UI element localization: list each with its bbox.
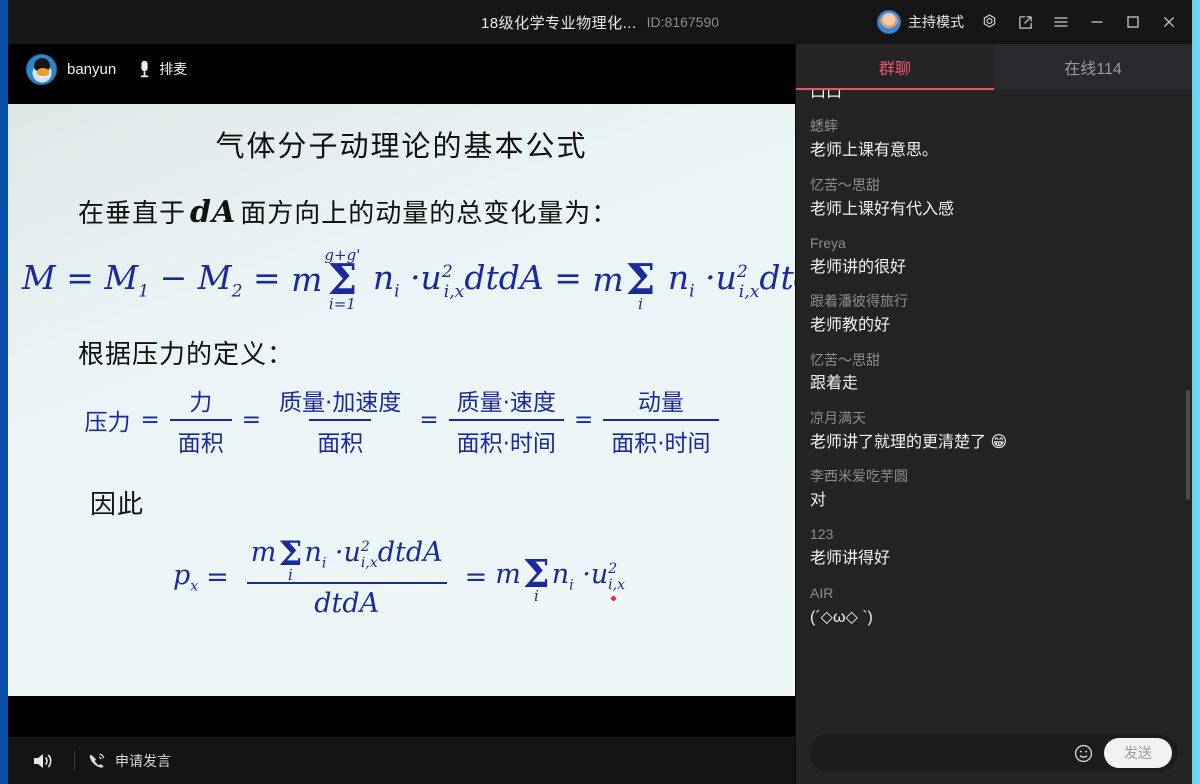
fraction-1-denominator: 面积: [170, 419, 232, 458]
slide-line-4: 因此: [90, 484, 795, 521]
fraction-5-numerator: mΣini ·u2i,xdtdA: [237, 537, 457, 582]
pressure-label: 压力: [84, 403, 130, 437]
host-mode-button[interactable]: 主持模式: [871, 10, 970, 34]
close-icon[interactable]: [1152, 5, 1186, 39]
equation-2: 压力 = 力 面积 = 质量·加速度 面积 =: [8, 383, 795, 458]
chat-scrollbar-thumb[interactable]: [1186, 390, 1190, 500]
title-bar-controls: 主持模式: [871, 0, 1186, 44]
chat-tabs: 群聊 在线114: [796, 44, 1192, 90]
title-bar: 18级化学专业物理化... ID:8167590 主持模式: [8, 0, 1192, 44]
desktop-background: 18级化学专业物理化... ID:8167590 主持模式: [0, 0, 1200, 784]
slide-line2-prefix: 在垂直于: [78, 193, 186, 230]
chat-message-text: 老师讲得好: [810, 548, 1178, 570]
chat-message-list[interactable]: 口口蟋蟀老师上课有意思。忆苦～思甜老师上课好有代入感Freya老师讲的很好跟着潘…: [796, 90, 1192, 722]
chat-input-bar: 发送: [796, 722, 1192, 784]
equation-3-eq2: =: [465, 562, 488, 593]
tab-group-chat[interactable]: 群聊: [796, 44, 994, 90]
minimize-icon[interactable]: [1080, 5, 1114, 39]
request-speak-button[interactable]: 申请发言: [87, 751, 171, 771]
fraction-4: 动量 面积·时间: [603, 383, 718, 458]
equation-1-term: ni ·u2i,xdtdA =: [362, 258, 592, 302]
sigma-icon: Σ: [328, 263, 358, 297]
toolbar-divider: [74, 751, 75, 771]
gear-icon[interactable]: [972, 5, 1006, 39]
sum-lower-limit: i=1: [329, 297, 356, 312]
window-title: 18级化学专业物理化...: [481, 12, 637, 33]
chat-message-author: AIR: [810, 584, 1178, 603]
phone-icon: [87, 752, 106, 771]
equation-1: M = M1 − M2 = m g+g' Σ i=1 ni ·u2i,xdtdA…: [22, 248, 795, 312]
penguin-avatar-icon: [26, 54, 57, 85]
chat-panel: 群聊 在线114 口口蟋蟀老师上课有意思。忆苦～思甜老师上课好有代入感Freya…: [795, 44, 1192, 784]
chat-message: 李西米爱吃芋圆对: [810, 467, 1178, 512]
chat-message-author: 123: [810, 525, 1178, 544]
eq-sign-1: =: [140, 407, 159, 433]
chat-message: AIR(´◇ω◇ `): [810, 584, 1178, 629]
fraction-5: mΣini ·u2i,xdtdA dtdA: [237, 537, 457, 619]
chat-message-author: 李西米爱吃芋圆: [810, 467, 1178, 486]
speaker-chip[interactable]: banyun: [26, 54, 116, 85]
tab-online-members[interactable]: 在线114: [994, 44, 1192, 90]
slide-line2-suffix: 面方向上的动量的总变化量为：: [240, 193, 618, 230]
eq-sign-4: =: [574, 407, 593, 433]
chat-message-author: 跟着潘彼得旅行: [810, 292, 1178, 311]
host-avatar: [877, 10, 901, 34]
mic-queue-label: 排麦: [159, 59, 187, 79]
equation-1-m2: m: [592, 260, 623, 299]
equation-3-lhs: px: [173, 560, 198, 594]
send-button[interactable]: 发送: [1104, 738, 1172, 768]
summation-1: g+g' Σ i=1: [324, 248, 360, 312]
chat-message: Freya老师讲的很好: [810, 234, 1178, 279]
chat-message-author: 蟋蟀: [810, 117, 1178, 136]
speaker-name: banyun: [67, 61, 116, 78]
fraction-3: 质量·速度 面积·时间: [449, 383, 564, 458]
equation-1-lhs: M = M1 − M2 =: [22, 258, 291, 302]
fraction-5-denominator: dtdA: [247, 582, 447, 619]
chat-message-author: 忆苦～思甜: [810, 351, 1178, 370]
meeting-window: 18级化学专业物理化... ID:8167590 主持模式: [8, 0, 1192, 784]
sigma-icon-2: Σ: [626, 263, 656, 297]
request-speak-label: 申请发言: [115, 751, 171, 771]
external-link-icon[interactable]: [1008, 5, 1042, 39]
chat-message-text: 对: [810, 490, 1178, 512]
chat-message-text: 口口: [810, 90, 1178, 104]
fraction-4-numerator: 动量: [630, 383, 692, 419]
chat-message: 忆苦～思甜老师上课好有代入感: [810, 176, 1178, 221]
hamburger-menu-icon[interactable]: [1044, 5, 1078, 39]
eq-sign-2: =: [242, 407, 261, 433]
slide-title: 气体分子动理论的基本公式: [8, 123, 795, 165]
equation-3-rhs: mΣini ·u2i,x: [495, 555, 630, 600]
stage-toolbar: 申请发言: [8, 737, 795, 784]
slide-line2-symbol: dA: [190, 195, 236, 230]
eq-sign-3: =: [419, 407, 438, 433]
room-id: ID:8167590: [647, 14, 719, 30]
fraction-4-denominator: 面积·时间: [603, 419, 718, 458]
chat-message-text: 老师上课有意思。: [810, 140, 1178, 162]
chat-message-author: Freya: [810, 234, 1178, 253]
maximize-icon[interactable]: [1116, 5, 1150, 39]
slide-content: 气体分子动理论的基本公式 在垂直于 dA 面方向上的动量的总变化量为： M = …: [8, 104, 795, 696]
speaker-icon[interactable]: [24, 742, 62, 780]
equation-3-eq: =: [206, 562, 229, 593]
fraction-2: 质量·加速度 面积: [271, 383, 409, 458]
equation-3: px = mΣini ·u2i,xdtdA dtdA = mΣini ·u2i,…: [8, 537, 795, 619]
summation-2: Σ i: [626, 248, 656, 312]
chat-message-text: 跟着走: [810, 373, 1178, 395]
fraction-1: 力 面积: [170, 383, 232, 458]
stage-column: banyun 排麦 气体分子动理论的基本公式: [8, 44, 795, 784]
host-mode-label: 主持模式: [908, 12, 964, 32]
chat-message: 口口: [810, 90, 1178, 104]
chat-message: 忆苦～思甜跟着走: [810, 351, 1178, 396]
chat-message-text: 老师讲的很好: [810, 257, 1178, 279]
microphone-icon: [138, 60, 151, 79]
fraction-3-numerator: 质量·速度: [449, 383, 564, 419]
fraction-2-numerator: 质量·加速度: [271, 383, 409, 419]
chat-message-text: (´◇ω◇ `): [810, 607, 1178, 629]
window-body: banyun 排麦 气体分子动理论的基本公式: [8, 44, 1192, 784]
fraction-2-denominator: 面积: [309, 419, 371, 458]
mic-queue-button[interactable]: 排麦: [138, 59, 187, 79]
equation-1-term2: ni ·u2i,xdtdA: [657, 258, 795, 302]
slide-line-3: 根据压力的定义：: [78, 334, 795, 371]
chat-message: 跟着潘彼得旅行老师教的好: [810, 292, 1178, 337]
sum2-lower-limit: i: [638, 297, 643, 312]
fraction-1-numerator: 力: [181, 383, 220, 419]
smiley-face-icon[interactable]: [1070, 740, 1096, 766]
slide-line-2: 在垂直于 dA 面方向上的动量的总变化量为：: [78, 193, 795, 230]
red-dot-annotation: [611, 596, 616, 601]
chat-input-field[interactable]: 发送: [810, 734, 1178, 772]
chat-message-author: 忆苦～思甜: [810, 176, 1178, 195]
presentation-stage[interactable]: 气体分子动理论的基本公式 在垂直于 dA 面方向上的动量的总变化量为： M = …: [8, 94, 795, 737]
chat-message-text: 老师教的好: [810, 315, 1178, 337]
chat-message: 蟋蟀老师上课有意思。: [810, 117, 1178, 162]
equation-1-m: m: [291, 260, 322, 299]
chat-message: 凉月满天老师讲了就理的更清楚了 😁: [810, 409, 1178, 454]
chat-message-author: 凉月满天: [810, 409, 1178, 428]
chat-message-text: 老师上课好有代入感: [810, 199, 1178, 221]
fraction-3-denominator: 面积·时间: [449, 419, 564, 458]
stage-header: banyun 排麦: [8, 44, 795, 94]
chat-message-text: 老师讲了就理的更清楚了 😁: [810, 432, 1178, 454]
chat-message: 123老师讲得好: [810, 525, 1178, 570]
